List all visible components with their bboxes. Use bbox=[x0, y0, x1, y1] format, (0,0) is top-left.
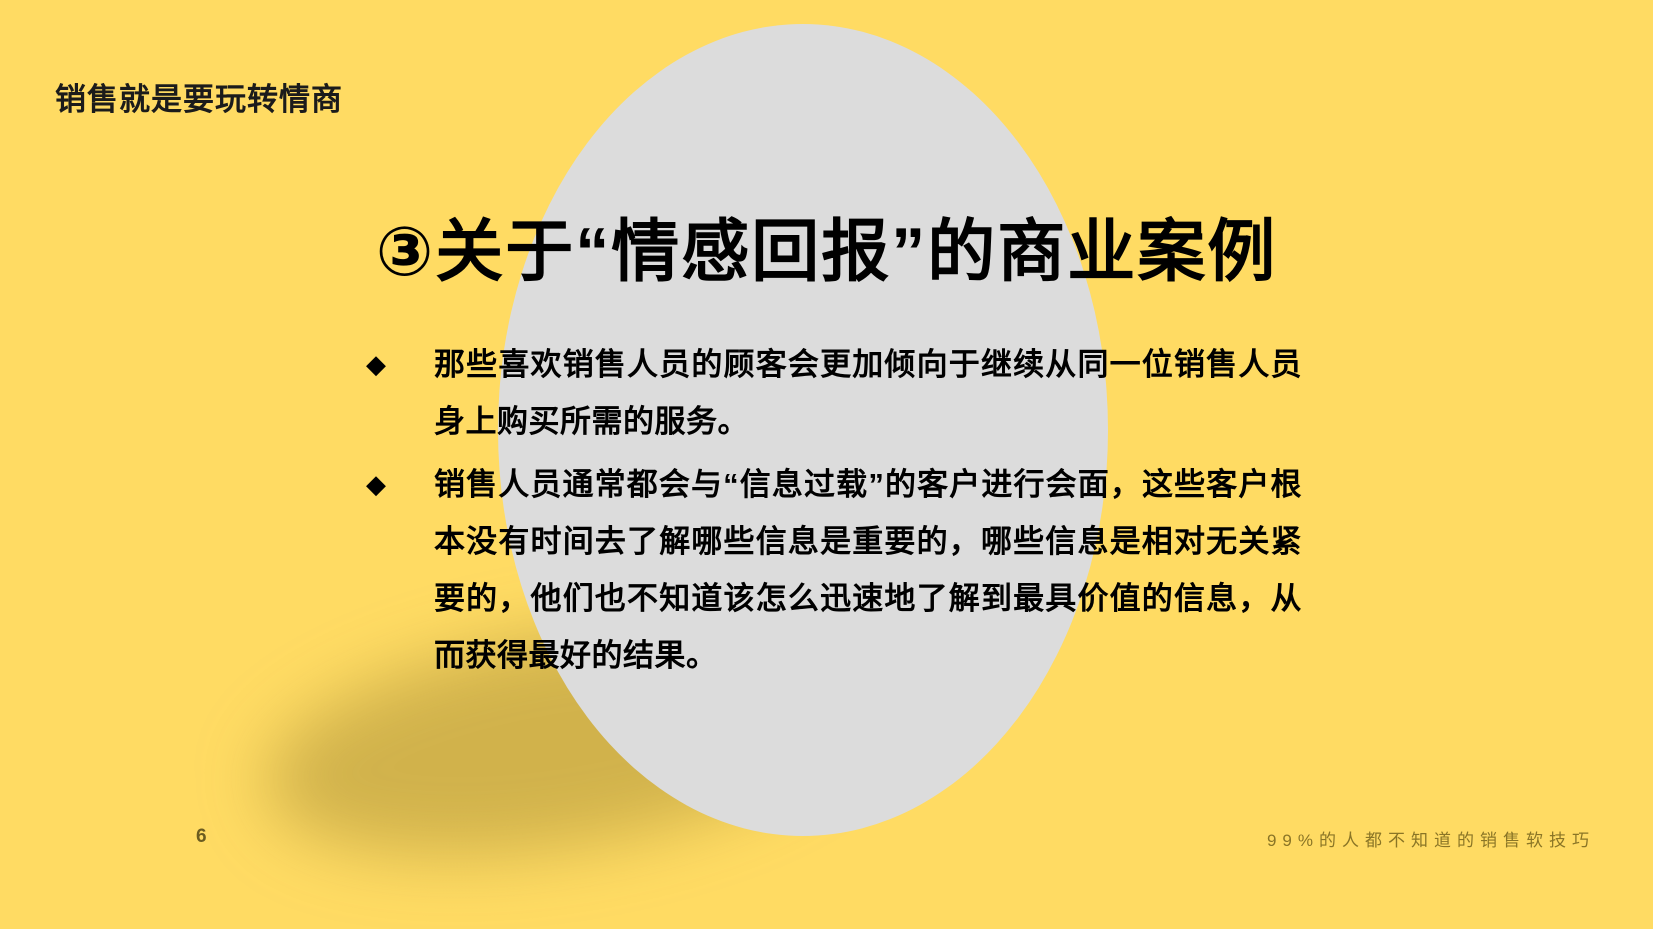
page-number: 6 bbox=[196, 826, 207, 848]
diamond-bullet-icon: ◆ bbox=[362, 336, 434, 393]
diamond-bullet-icon: ◆ bbox=[362, 456, 434, 513]
bullet-text: 销售人员通常都会与“信息过载”的客户进行会面，这些客户根本没有时间去了解哪些信息… bbox=[434, 456, 1302, 684]
presentation-slide: 销售就是要玩转情商 ③关于“情感回报”的商业案例 ◆ 那些喜欢销售人员的顾客会更… bbox=[0, 0, 1653, 929]
footer-note: 99%的人都不知道的销售软技巧 bbox=[1267, 826, 1595, 851]
page-title: ③关于“情感回报”的商业案例 bbox=[0, 196, 1653, 295]
header-title: 销售就是要玩转情商 bbox=[55, 74, 343, 119]
list-item: ◆ 那些喜欢销售人员的顾客会更加倾向于继续从同一位销售人员身上购买所需的服务。 bbox=[362, 336, 1302, 450]
list-item: ◆ 销售人员通常都会与“信息过载”的客户进行会面，这些客户根本没有时间去了解哪些… bbox=[362, 456, 1302, 684]
bullet-text: 那些喜欢销售人员的顾客会更加倾向于继续从同一位销售人员身上购买所需的服务。 bbox=[434, 336, 1302, 450]
bullet-list: ◆ 那些喜欢销售人员的顾客会更加倾向于继续从同一位销售人员身上购买所需的服务。 … bbox=[362, 336, 1302, 690]
